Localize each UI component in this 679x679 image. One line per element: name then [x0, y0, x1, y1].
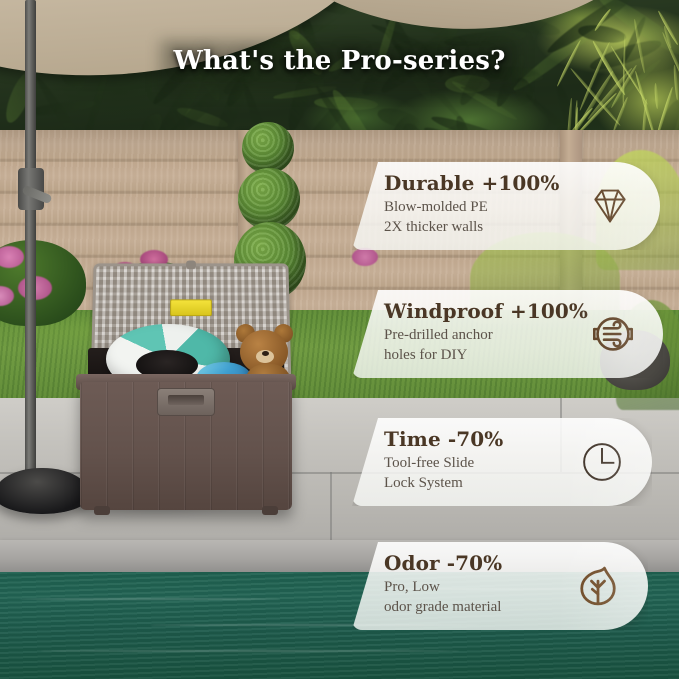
diamond-icon: [584, 180, 636, 232]
flower-bloom: [352, 248, 378, 266]
feature-card-time[interactable]: Time -70% Tool-free Slide Lock System: [352, 418, 652, 506]
feature-card-odor[interactable]: Odor -70% Pro, Low odor grade material: [352, 542, 648, 630]
feature-card-durable[interactable]: Durable +100% Blow-molded PE 2X thicker …: [352, 162, 660, 250]
infographic-canvas: What's the Pro-series? Durable +100% Blo…: [0, 0, 679, 679]
water-ripple: [40, 650, 460, 652]
page-title: What's the Pro-series?: [0, 46, 679, 76]
warning-label: [170, 299, 212, 316]
clock-icon: [576, 436, 628, 488]
deck-box-foot: [262, 506, 278, 515]
deck-box-handle: [168, 395, 204, 405]
topiary-ball-top: [242, 122, 294, 174]
teddy-nose: [262, 351, 269, 356]
title-area: What's the Pro-series?: [0, 46, 679, 76]
deck-box-foot: [94, 506, 110, 515]
feature-card-windproof[interactable]: Windproof +100% Pre-drilled anchor holes…: [352, 290, 663, 378]
deck-box: [80, 262, 292, 530]
wind-icon: [587, 308, 639, 360]
leaf-icon: [572, 560, 624, 612]
lid-hinge: [186, 261, 196, 270]
topiary-ball-middle: [238, 168, 300, 230]
water-ripple: [20, 598, 280, 600]
